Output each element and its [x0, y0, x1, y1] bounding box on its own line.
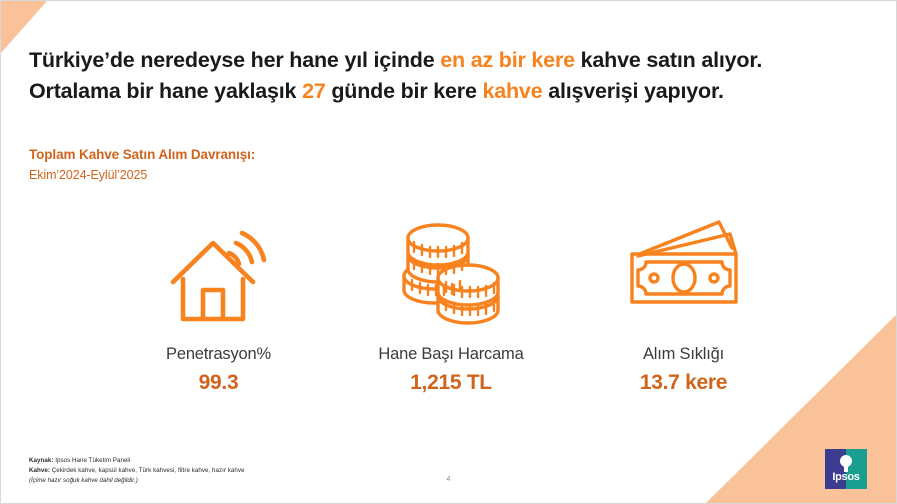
- kpi-spend-per-household: Hane Başı Harcama 1,215 TL: [344, 213, 559, 395]
- coin-stack-icon: [396, 213, 506, 325]
- page-number: 4: [1, 476, 896, 483]
- kpi-value: 13.7 kere: [640, 371, 727, 395]
- footnote-definition: Kahve: Çekirdek kahve, kapsül kahve, Tür…: [29, 466, 409, 476]
- headline-line2-text-before: Ortalama bir hane yaklaşık: [29, 79, 302, 103]
- subtitle-period: Ekim’2024-Eylül’2025: [29, 166, 255, 184]
- headline-line2-highlight-word: kahve: [482, 79, 542, 103]
- kpi-label: Hane Başı Harcama: [378, 345, 523, 364]
- kpi-penetration: Penetrasyon% 99.3: [111, 213, 326, 395]
- presentation-slide: Türkiye’de neredeyse her hane yıl içinde…: [0, 0, 897, 504]
- footnote-definition-value: Çekirdek kahve, kapsül kahve, Türk kahve…: [50, 467, 245, 474]
- kpi-label: Alım Sıklığı: [643, 345, 724, 364]
- kpi-value: 99.3: [199, 371, 239, 395]
- headline-line2-text-after: alışverişi yapıyor.: [542, 79, 723, 103]
- headline-line1-text-after: kahve satın alıyor.: [575, 48, 762, 72]
- logo-mark-icon: [840, 455, 852, 472]
- footnote-source-label: Kaynak:: [29, 457, 53, 464]
- headline-line1-text-before: Türkiye’de neredeyse her hane yıl içinde: [29, 48, 440, 72]
- headline-line2-highlight-number: 27: [302, 79, 326, 103]
- headline-line-1: Türkiye’de neredeyse her hane yıl içinde…: [29, 45, 829, 76]
- logo-text: Ipsos: [825, 471, 867, 483]
- footnote-source: Kaynak: Ipsos Hane Tüketim Paneli: [29, 456, 409, 466]
- house-wifi-icon: [167, 213, 271, 325]
- footnote-definition-label: Kahve:: [29, 467, 50, 474]
- footnote-source-value: Ipsos Hane Tüketim Paneli: [53, 457, 130, 464]
- kpi-value: 1,215 TL: [410, 371, 492, 395]
- banknotes-icon: [624, 213, 744, 325]
- ipsos-logo: Ipsos: [825, 449, 867, 489]
- headline-line-2: Ortalama bir hane yaklaşık 27 günde bir …: [29, 76, 829, 107]
- subtitle-block: Toplam Kahve Satın Alım Davranışı: Ekim’…: [29, 146, 255, 184]
- headline-line2-text-middle: günde bir kere: [326, 79, 483, 103]
- kpi-purchase-frequency: Alım Sıklığı 13.7 kere: [576, 213, 791, 395]
- subtitle-title: Toplam Kahve Satın Alım Davranışı:: [29, 146, 255, 164]
- kpi-label: Penetrasyon%: [166, 345, 271, 364]
- headline-line1-highlight: en az bir kere: [440, 48, 575, 72]
- kpi-row: Penetrasyon% 99.3: [111, 213, 791, 395]
- headline: Türkiye’de neredeyse her hane yıl içinde…: [29, 45, 829, 107]
